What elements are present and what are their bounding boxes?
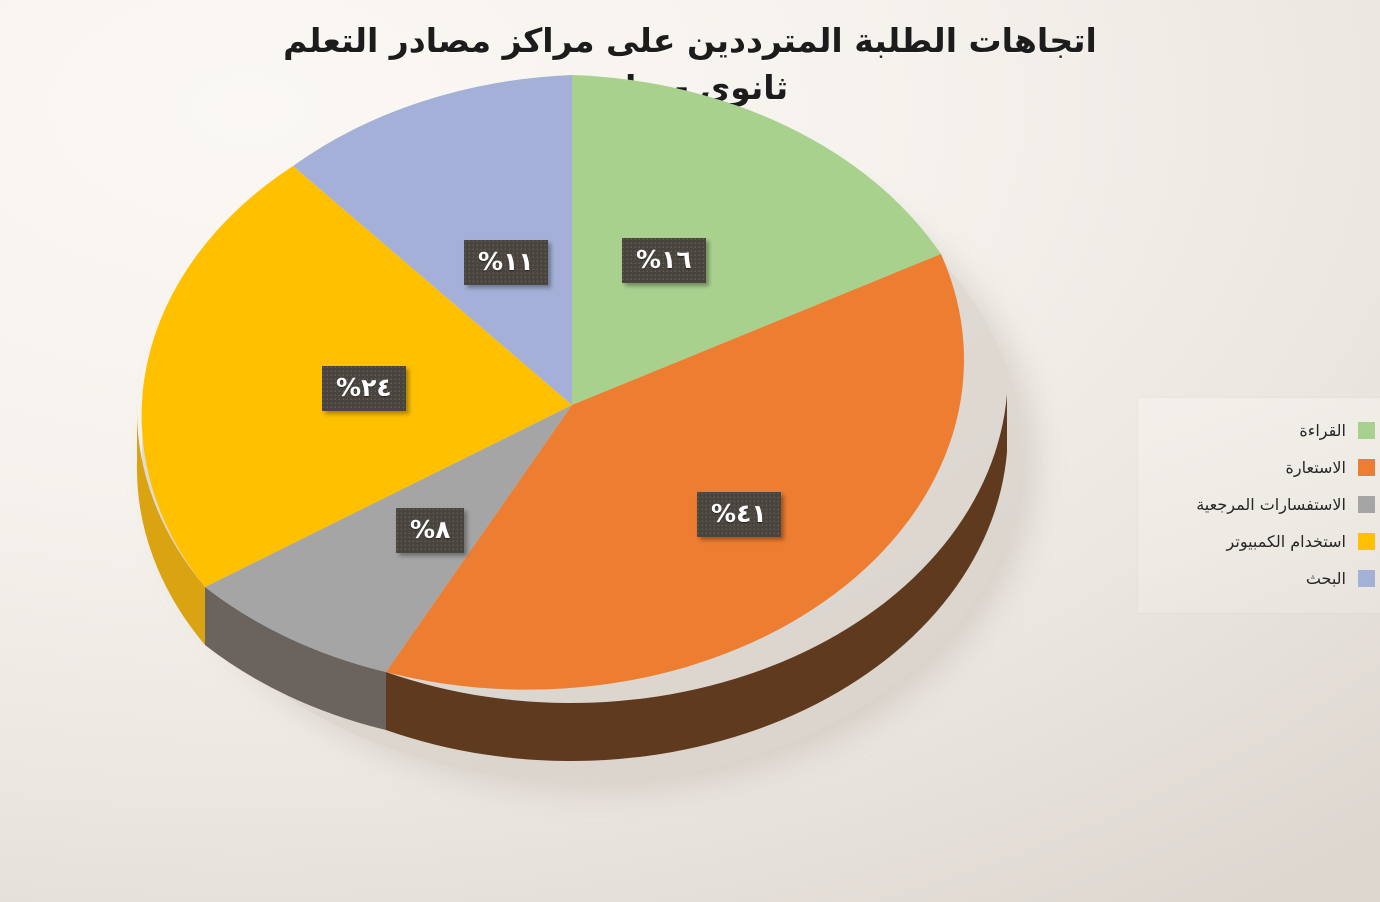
data-label-research: %١١ (464, 240, 548, 285)
pie-chart: %١٦ %٤١ %٨ %٢٤ %١١ (0, 0, 1120, 902)
data-label-reference: %٨ (396, 508, 464, 553)
legend-label-reference: الاستفسارات المرجعية (1196, 495, 1346, 514)
data-label-computer: %٢٤ (322, 366, 406, 411)
data-label-borrowing: %٤١ (697, 492, 781, 537)
chart-legend: القراءة الاستعارة الاستفسارات المرجعية ا… (1138, 398, 1380, 613)
legend-item-research[interactable]: البحث (1148, 560, 1380, 597)
legend-label-research: البحث (1306, 569, 1346, 588)
legend-item-borrowing[interactable]: الاستعارة (1148, 449, 1380, 486)
legend-item-reading[interactable]: القراءة (1148, 412, 1380, 449)
legend-label-borrowing: الاستعارة (1285, 458, 1346, 477)
legend-label-computer: استخدام الكمبيوتر (1227, 532, 1346, 551)
legend-item-reference[interactable]: الاستفسارات المرجعية (1148, 486, 1380, 523)
legend-label-reading: القراءة (1299, 421, 1346, 440)
legend-swatch-icon-computer (1358, 533, 1375, 550)
legend-item-computer[interactable]: استخدام الكمبيوتر (1148, 523, 1380, 560)
legend-swatch-icon-research (1358, 570, 1375, 587)
data-label-reading: %١٦ (622, 238, 706, 283)
chart-canvas: اتجاهات الطلبة المترددين على مراكز مصادر… (0, 0, 1380, 902)
pie-chart-svg (0, 0, 1120, 902)
legend-swatch-icon-reference (1358, 496, 1375, 513)
legend-swatch-icon-borrowing (1358, 459, 1375, 476)
legend-swatch-icon-reading (1358, 422, 1375, 439)
